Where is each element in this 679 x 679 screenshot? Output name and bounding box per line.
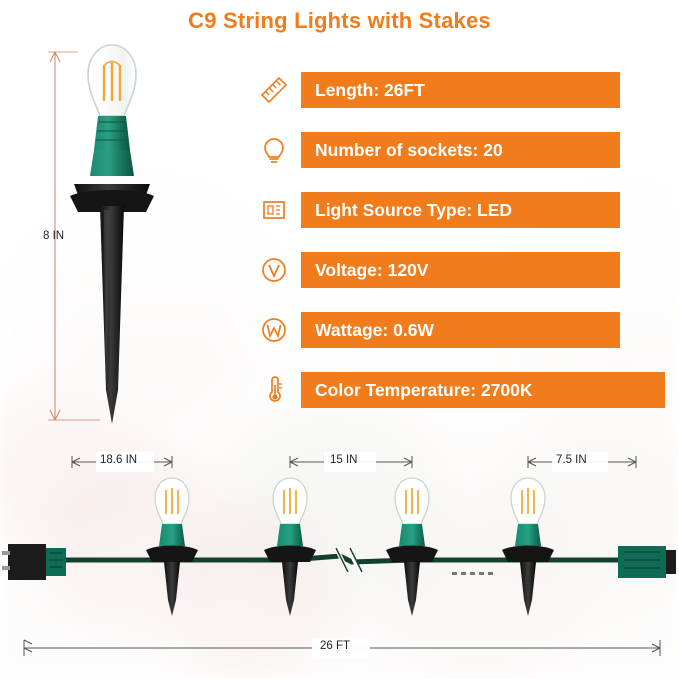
string-light-diagram <box>0 0 679 679</box>
dim-label-total-length: 26 FT <box>320 640 350 652</box>
dim-label-tail-spacing: 7.5 IN <box>556 454 587 466</box>
dim-label-lead-spacing: 18.6 IN <box>100 454 137 466</box>
dim-label-bulb-spacing: 15 IN <box>330 454 358 466</box>
